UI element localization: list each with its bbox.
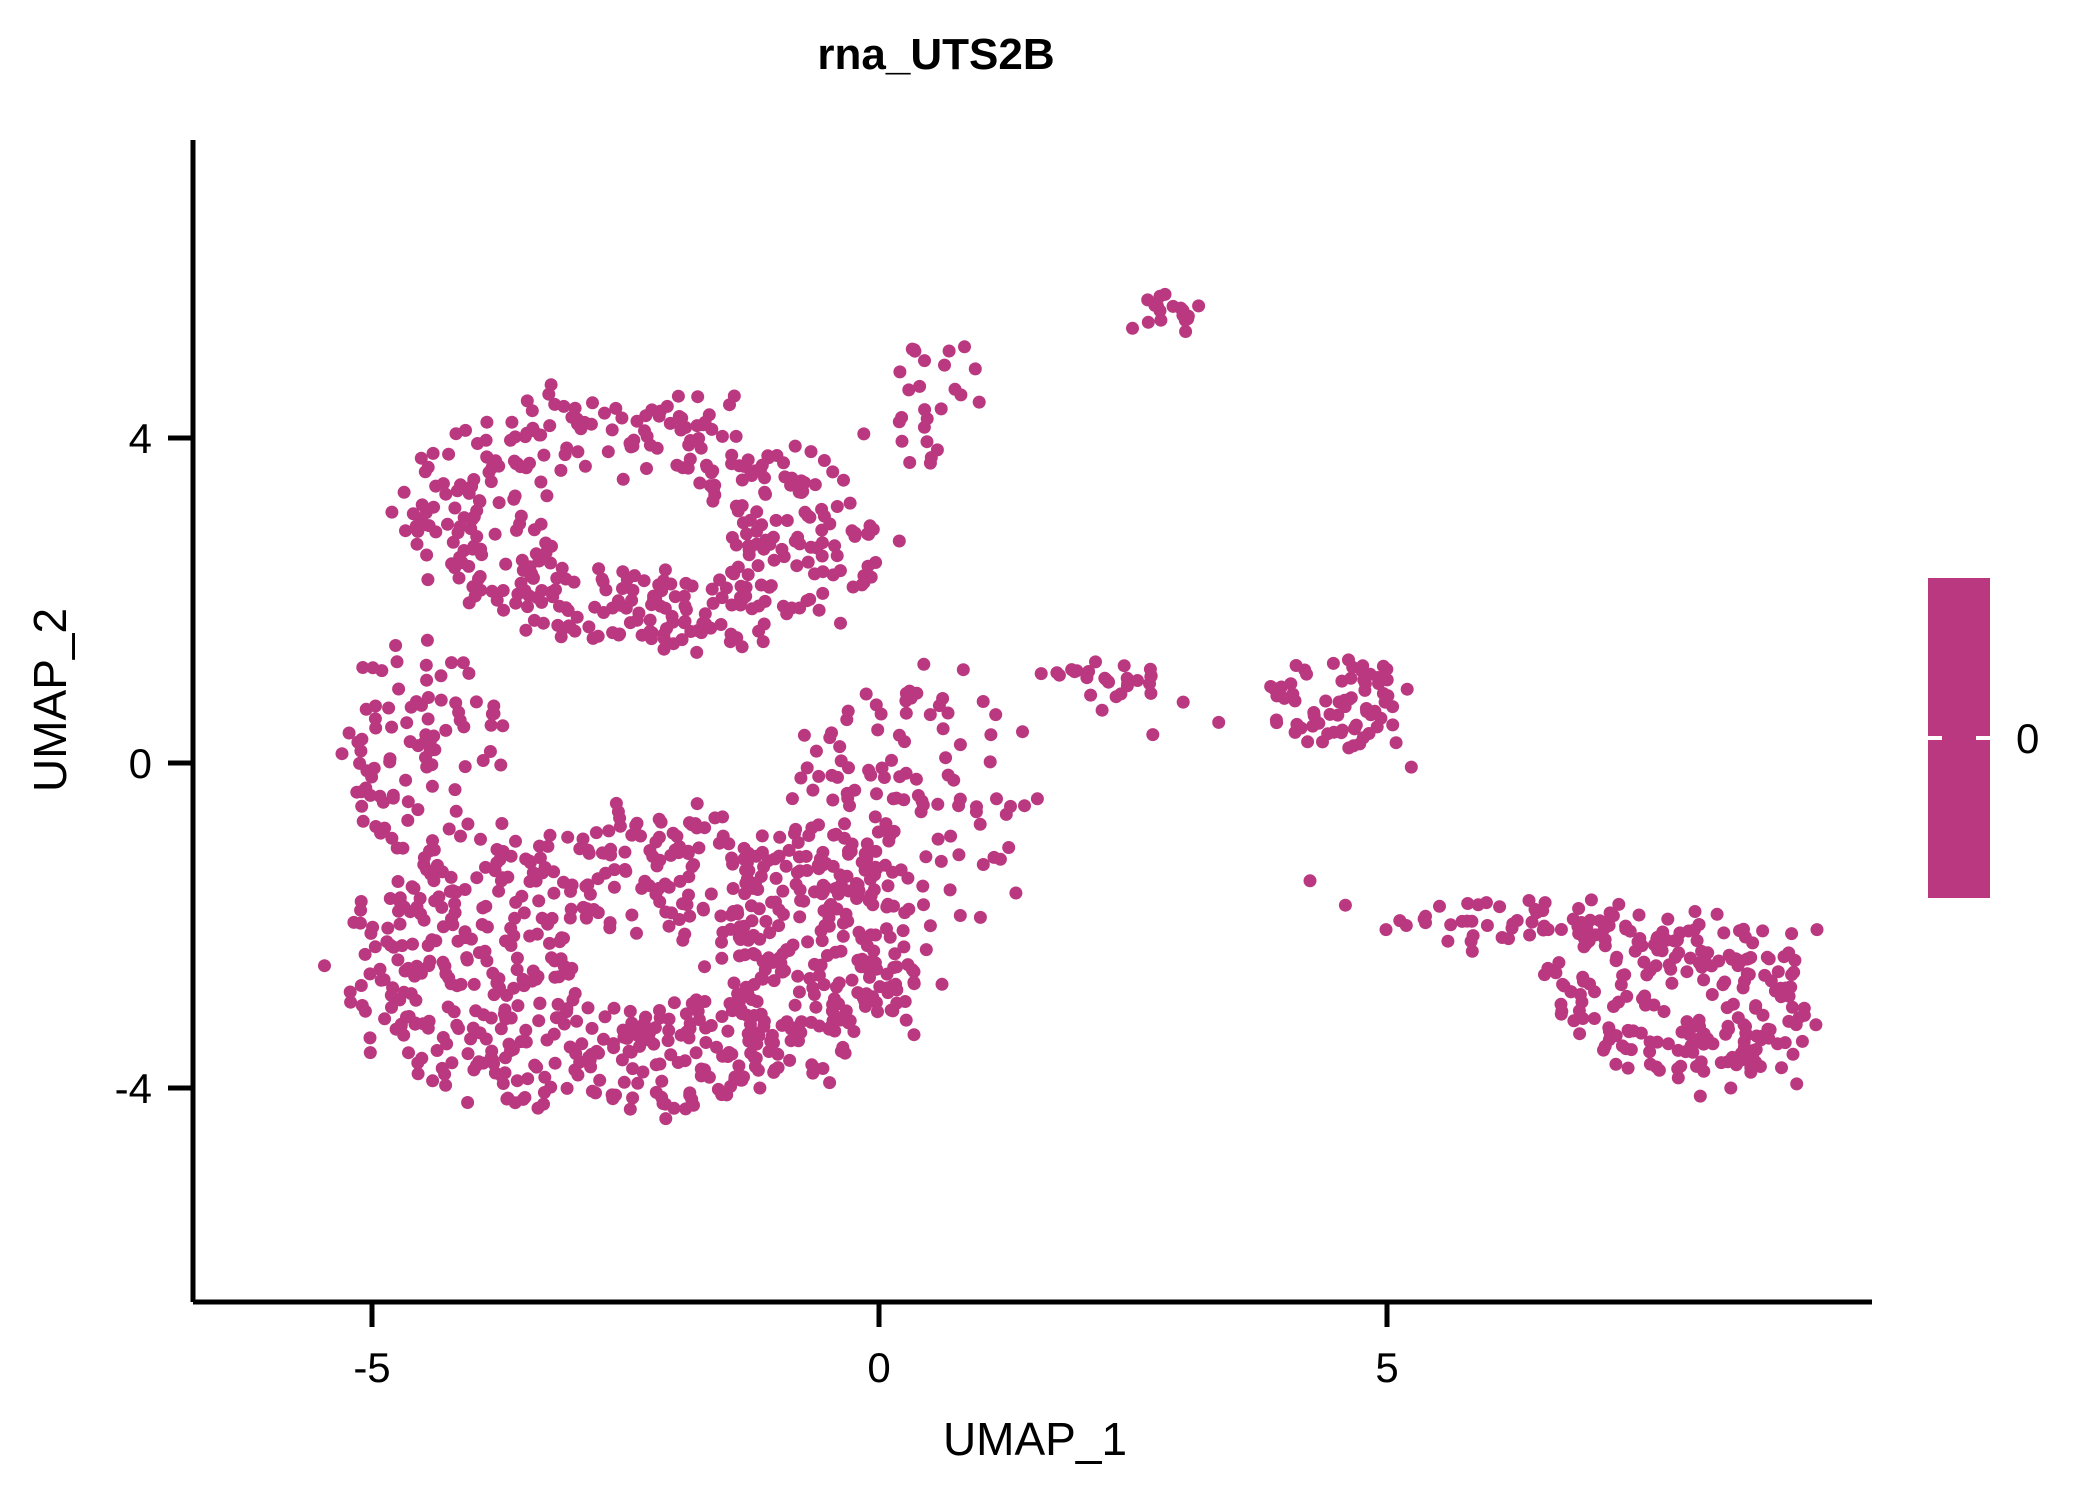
scatter-point [1756, 924, 1769, 937]
scatter-point [401, 814, 414, 827]
scatter-point [943, 345, 956, 358]
scatter-point [815, 959, 828, 972]
scatter-point [1555, 1008, 1568, 1021]
scatter-point [698, 960, 711, 973]
scatter-point [974, 911, 987, 924]
scatter-point [762, 854, 775, 867]
scatter-point [1609, 1058, 1622, 1071]
scatter-point [736, 593, 749, 606]
scatter-point [448, 1005, 461, 1018]
scatter-point [470, 871, 483, 884]
scatter-point [1603, 1025, 1616, 1038]
scatter-point [463, 487, 476, 500]
scatter-point [437, 1031, 450, 1044]
colorbar-legend[interactable]: 0 [1928, 578, 2039, 898]
scatter-point [1575, 916, 1588, 929]
scatter-point [630, 927, 643, 940]
scatter-point [864, 928, 877, 941]
scatter-point [574, 422, 587, 435]
scatter-point [683, 1089, 696, 1102]
scatter-point [841, 787, 854, 800]
scatter-point [474, 1026, 487, 1039]
scatter-point [683, 910, 696, 923]
scatter-point [944, 883, 957, 896]
scatter-point [565, 903, 578, 916]
scatter-point [906, 343, 919, 356]
scatter-point [777, 456, 790, 469]
scatter-point [467, 473, 480, 486]
scatter-point [385, 506, 398, 519]
scatter-point [538, 1071, 551, 1084]
scatter-point [540, 546, 553, 559]
scatter-point [869, 810, 882, 823]
scatter-point [445, 656, 458, 669]
x-axis-title: UMAP_1 [943, 1413, 1127, 1465]
scatter-point [1684, 952, 1697, 965]
scatter-point [1618, 968, 1631, 981]
scatter-point [422, 713, 435, 726]
scatter-point [509, 835, 522, 848]
scatter-point [841, 870, 854, 883]
scatter-point [644, 439, 657, 452]
scatter-point [532, 894, 545, 907]
scatter-point [1782, 946, 1795, 959]
scatter-point [459, 883, 472, 896]
scatter-point [1002, 841, 1015, 854]
scatter-point [474, 833, 487, 846]
scatter-point [653, 854, 666, 867]
scatter-point [1758, 969, 1771, 982]
scatter-point [639, 409, 652, 422]
scatter-point [888, 947, 901, 960]
scatter-point [384, 892, 397, 905]
y-axis-ticks: 4 0 -4 [115, 415, 193, 1112]
scatter-point [813, 1020, 826, 1033]
scatter-point [623, 1045, 636, 1058]
scatter-point [393, 993, 406, 1006]
scatter-point [924, 708, 937, 721]
scatter-point [466, 513, 479, 526]
scatter-point [485, 719, 498, 732]
scatter-point [422, 959, 435, 972]
scatter-point [812, 770, 825, 783]
scatter-point [454, 830, 467, 843]
scatter-point [435, 694, 448, 707]
scatter-point [624, 1103, 637, 1116]
scatter-point [659, 563, 672, 576]
scatter-point [897, 924, 910, 937]
scatter-point [1339, 700, 1352, 713]
scatter-point [404, 905, 417, 918]
scatter-point [555, 630, 568, 643]
scatter-point [1616, 1039, 1629, 1052]
scatter-point [825, 769, 838, 782]
scatter-point [1694, 1090, 1707, 1103]
scatter-point [1672, 1044, 1685, 1057]
scatter-point [1290, 659, 1303, 672]
scatter-point [582, 620, 595, 633]
scatter-point [518, 906, 531, 919]
scatter-point [1461, 897, 1474, 910]
scatter-point [493, 981, 506, 994]
scatter-point [487, 700, 500, 713]
scatter-point [537, 449, 550, 462]
scatter-point [459, 931, 472, 944]
scatter-point [523, 855, 536, 868]
scatter-point [544, 829, 557, 842]
scatter-point [1009, 887, 1022, 900]
scatter-point [607, 1037, 620, 1050]
scatter-point [773, 831, 786, 844]
scatter-point [505, 416, 518, 429]
scatter-point [1177, 696, 1190, 709]
scatter-point [932, 833, 945, 846]
scatter-point [1480, 896, 1493, 909]
scatter-point [789, 999, 802, 1012]
scatter-point [445, 1056, 458, 1069]
scatter-point [1769, 985, 1782, 998]
chart-page: rna_UTS2B 4 0 -4 -5 0 5 UMAP_1 UMAP_2 [0, 0, 2100, 1500]
scatter-point [354, 917, 367, 930]
scatter-point [1689, 905, 1702, 918]
scatter-point [882, 835, 895, 848]
scatter-point [939, 751, 952, 764]
scatter-point [534, 852, 547, 865]
scatter-point [770, 872, 783, 885]
scatter-point [1619, 920, 1632, 933]
scatter-point [441, 518, 454, 531]
scatter-point [885, 1004, 898, 1017]
scatter-point [606, 1092, 619, 1105]
scatter-point [759, 595, 772, 608]
scatter-point [917, 658, 930, 671]
scatter-point [1790, 1077, 1803, 1090]
scatter-point [613, 812, 626, 825]
scatter-point [707, 483, 720, 496]
scatter-point [893, 535, 906, 548]
scatter-point [823, 517, 836, 530]
scatter-point [460, 951, 473, 964]
scatter-point [957, 663, 970, 676]
scatter-point [988, 851, 1001, 864]
scatter-point [653, 895, 666, 908]
scatter-point [463, 596, 476, 609]
scatter-point [531, 928, 544, 941]
scatter-point [515, 577, 528, 590]
scatter-point [871, 723, 884, 736]
scatter-point [798, 729, 811, 742]
scatter-point [351, 736, 364, 749]
scatter-point [713, 837, 726, 850]
scatter-point [659, 1098, 672, 1111]
scatter-point [1380, 663, 1393, 676]
scatter-point [1506, 917, 1519, 930]
scatter-point [442, 971, 455, 984]
scatter-point [411, 1056, 424, 1069]
scatter-point [399, 774, 412, 787]
scatter-point [873, 980, 886, 993]
scatter-point [893, 365, 906, 378]
scatter-point [655, 1075, 668, 1088]
scatter-point [783, 1054, 796, 1067]
scatter-point [769, 896, 782, 909]
scatter-point [668, 996, 681, 1009]
scatter-point [916, 880, 929, 893]
scatter-point [778, 470, 791, 483]
scatter-point [457, 656, 470, 669]
scatter-point [649, 836, 662, 849]
scatter-point [477, 1057, 490, 1070]
scatter-point [612, 629, 625, 642]
scatter-point [606, 423, 619, 436]
scatter-point [1683, 1028, 1696, 1041]
scatter-point [1380, 923, 1393, 936]
scatter-point [1811, 923, 1824, 936]
scatter-point [653, 410, 666, 423]
scatter-point [1627, 1024, 1640, 1037]
scatter-point [355, 800, 368, 813]
scatter-point [540, 489, 553, 502]
scatter-points-layer [318, 288, 1824, 1125]
scatter-point [952, 799, 965, 812]
scatter-point [1572, 927, 1585, 940]
scatter-point [659, 602, 672, 615]
scatter-point [497, 584, 510, 597]
scatter-point [687, 858, 700, 871]
scatter-point [547, 887, 560, 900]
scatter-point [886, 979, 899, 992]
scatter-point [944, 830, 957, 843]
scatter-point [1573, 1004, 1586, 1017]
scatter-point [480, 416, 493, 429]
scatter-point [902, 383, 915, 396]
scatter-point [826, 794, 839, 807]
scatter-point [459, 424, 472, 437]
scatter-point [429, 934, 442, 947]
scatter-point [378, 1012, 391, 1025]
scatter-point [602, 824, 615, 837]
scatter-point [1300, 668, 1313, 681]
scatter-point [509, 896, 522, 909]
scatter-point [336, 747, 349, 760]
scatter-point [775, 543, 788, 556]
scatter-point [795, 474, 808, 487]
scatter-point [438, 1068, 451, 1081]
scatter-point [882, 879, 895, 892]
scatter-point [561, 831, 574, 844]
scatter-point [1583, 978, 1596, 991]
scatter-point [422, 691, 435, 704]
scatter-point [448, 897, 461, 910]
scatter-point [1377, 687, 1390, 700]
scatter-point [476, 901, 489, 914]
scatter-point [1526, 916, 1539, 929]
scatter-point [1053, 669, 1066, 682]
scatter-point [917, 898, 930, 911]
scatter-point [818, 904, 831, 917]
scatter-point [1360, 702, 1373, 715]
scatter-point [791, 970, 804, 983]
scatter-point [457, 720, 470, 733]
scatter-point [477, 1008, 490, 1021]
scatter-point [1785, 927, 1798, 940]
scatter-point [893, 415, 906, 428]
scatter-point [1080, 671, 1093, 684]
scatter-point [742, 568, 755, 581]
scatter-point [860, 688, 873, 701]
scatter-point [608, 881, 621, 894]
scatter-point [587, 632, 600, 645]
scatter-point [420, 549, 433, 562]
scatter-point [509, 430, 522, 443]
scatter-point [344, 996, 357, 1009]
scatter-point [443, 823, 456, 836]
scatter-point [738, 460, 751, 473]
scatter-point [887, 792, 900, 805]
scatter-point [872, 826, 885, 839]
scatter-point [1339, 899, 1352, 912]
scatter-point [1418, 913, 1431, 926]
scatter-point [620, 602, 633, 615]
scatter-point [1585, 893, 1598, 906]
scatter-point [402, 1046, 415, 1059]
scatter-point [864, 769, 877, 782]
scatter-point [1604, 906, 1617, 919]
scatter-point [823, 920, 836, 933]
scatter-point [725, 457, 738, 470]
scatter-point [366, 921, 379, 934]
scatter-point [597, 606, 610, 619]
scatter-point [791, 866, 804, 879]
scatter-point [644, 614, 657, 627]
scatter-point [423, 519, 436, 532]
scatter-point [559, 573, 572, 586]
scatter-point [954, 909, 967, 922]
scatter-point [974, 818, 987, 831]
scatter-point [1785, 968, 1798, 981]
scatter-point [833, 740, 846, 753]
scatter-point [898, 906, 911, 919]
scatter-point [699, 416, 712, 429]
scatter-point [806, 981, 819, 994]
scatter-point [752, 559, 765, 572]
scatter-point [1031, 792, 1044, 805]
scatter-point [1035, 667, 1048, 680]
scatter-point [494, 759, 507, 772]
scatter-point [680, 603, 693, 616]
scatter-point [448, 502, 461, 515]
scatter-point [969, 362, 982, 375]
scatter-point [860, 987, 873, 1000]
scatter-point [768, 974, 781, 987]
scatter-point [1335, 675, 1348, 688]
colorbar-tick-label: 0 [2016, 715, 2039, 762]
scatter-point [1573, 1027, 1586, 1040]
scatter-point [462, 560, 475, 573]
scatter-point [1319, 695, 1332, 708]
scatter-point [496, 871, 509, 884]
scatter-point [845, 845, 858, 858]
scatter-point [698, 821, 711, 834]
scatter-point [364, 1031, 377, 1044]
scatter-point [728, 977, 741, 990]
scatter-point [857, 427, 870, 440]
scatter-point [865, 571, 878, 584]
scatter-point [938, 359, 951, 372]
scatter-point [392, 875, 405, 888]
scatter-point [745, 899, 758, 912]
scatter-point [750, 1052, 763, 1065]
scatter-point [716, 810, 729, 823]
scatter-point [958, 340, 971, 353]
scatter-point [551, 619, 564, 632]
scatter-point [670, 459, 683, 472]
scatter-point [679, 1102, 692, 1115]
scatter-point [392, 683, 405, 696]
scatter-point [1538, 968, 1551, 981]
scatter-point [733, 995, 746, 1008]
scatter-point [649, 1021, 662, 1034]
scatter-point [739, 864, 752, 877]
scatter-point [1712, 955, 1725, 968]
scatter-point [527, 866, 540, 879]
scatter-point [396, 842, 409, 855]
scatter-point [1018, 799, 1031, 812]
scatter-point [498, 1008, 511, 1021]
scatter-point [598, 407, 611, 420]
scatter-point [411, 538, 424, 551]
scatter-point [562, 968, 575, 981]
scatter-point [1312, 717, 1325, 730]
scatter-point [1574, 988, 1587, 1001]
scatter-point [426, 1074, 439, 1087]
scatter-point [893, 729, 906, 742]
scatter-point [516, 554, 529, 567]
scatter-point [559, 601, 572, 614]
scatter-point [827, 568, 840, 581]
scatter-point [949, 383, 962, 396]
scatter-point [477, 754, 490, 767]
scatter-point [437, 920, 450, 933]
scatter-point [553, 935, 566, 948]
scatter-point [548, 398, 561, 411]
scatter-point [816, 846, 829, 859]
scatter-point [919, 850, 932, 863]
scatter-point [537, 1098, 550, 1111]
scatter-point [1588, 1012, 1601, 1025]
scatter-point [452, 1022, 465, 1035]
scatter-point [548, 1028, 561, 1041]
scatter-point [476, 918, 489, 931]
scatter-point [1653, 1064, 1666, 1077]
scatter-point [1693, 918, 1706, 931]
scatter-point [705, 888, 718, 901]
scatter-point [900, 1014, 913, 1027]
scatter-point [552, 1011, 565, 1024]
y-tick-label-4: 4 [129, 415, 152, 462]
scatter-point [730, 430, 743, 443]
scatter-point [989, 708, 1002, 721]
scatter-point [1782, 1015, 1795, 1028]
scatter-point [786, 792, 799, 805]
scatter-point [977, 695, 990, 708]
scatter-point [739, 948, 752, 961]
scatter-point [653, 882, 666, 895]
scatter-point [794, 883, 807, 896]
scatter-point [1523, 929, 1536, 942]
scatter-point [356, 661, 369, 674]
scatter-point [479, 945, 492, 958]
